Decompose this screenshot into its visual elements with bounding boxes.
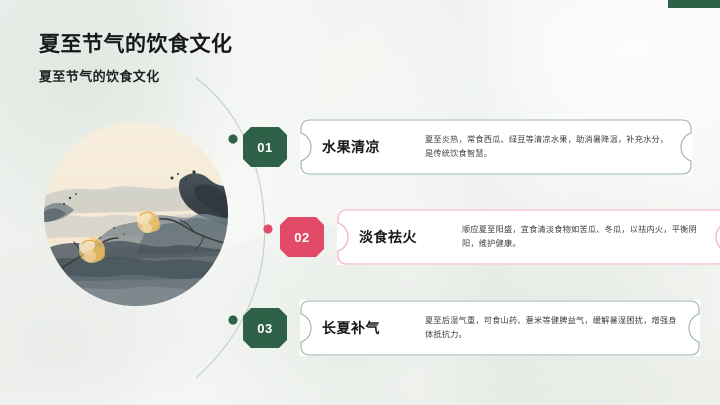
item-title: 长夏补气 xyxy=(300,318,425,338)
item-body: 夏至后湿气重，可食山药、薏米等健脾益气，缓解暑湿困扰，增强身体抵抗力。 xyxy=(425,314,700,343)
item-body: 顺应夏至阳盛，宜食清淡食物如苦瓜、冬瓜，以祛内火，平衡阴阳，维护健康。 xyxy=(462,223,720,252)
item-title: 淡食祛火 xyxy=(337,227,462,247)
top-right-accent-bar xyxy=(668,0,720,8)
item-card[interactable]: 水果清凉 夏至炎热，常食西瓜、绿豆等清凉水果，助消暑降温，补充水分，是传统饮食智… xyxy=(300,119,692,175)
item-number-badge: 03 xyxy=(243,308,287,348)
list-item[interactable]: 03 长夏补气 夏至后湿气重，可食山药、薏米等健脾益气，缓解暑湿困扰，增强身体抵… xyxy=(243,300,700,356)
slide-canvas: 夏至节气的饮食文化 夏至节气的饮食文化 xyxy=(0,0,720,405)
page-subtitle: 夏至节气的饮食文化 xyxy=(39,66,160,85)
arc-dot-3 xyxy=(228,315,237,324)
ink-wash-landscape-image xyxy=(44,122,228,306)
list-item[interactable]: 01 水果清凉 夏至炎热，常食西瓜、绿豆等清凉水果，助消暑降温，补充水分，是传统… xyxy=(243,119,692,175)
item-title: 水果清凉 xyxy=(300,137,425,157)
page-title: 夏至节气的饮食文化 xyxy=(39,28,233,58)
item-card[interactable]: 淡食祛火 顺应夏至阳盛，宜食清淡食物如苦瓜、冬瓜，以祛内火，平衡阴阳，维护健康。 xyxy=(337,209,720,265)
item-card[interactable]: 长夏补气 夏至后湿气重，可食山药、薏米等健脾益气，缓解暑湿困扰，增强身体抵抗力。 xyxy=(300,300,700,356)
watercolor-wash-bottom-right xyxy=(370,155,720,405)
item-number-badge: 02 xyxy=(280,217,324,257)
item-number-badge: 01 xyxy=(243,127,287,167)
arc-dot-1 xyxy=(228,134,237,143)
list-item[interactable]: 02 淡食祛火 顺应夏至阳盛，宜食清淡食物如苦瓜、冬瓜，以祛内火，平衡阴阳，维护… xyxy=(280,209,720,265)
arc-dot-2 xyxy=(263,224,272,233)
item-body: 夏至炎热，常食西瓜、绿豆等清凉水果，助消暑降温，补充水分，是传统饮食智慧。 xyxy=(425,133,692,162)
